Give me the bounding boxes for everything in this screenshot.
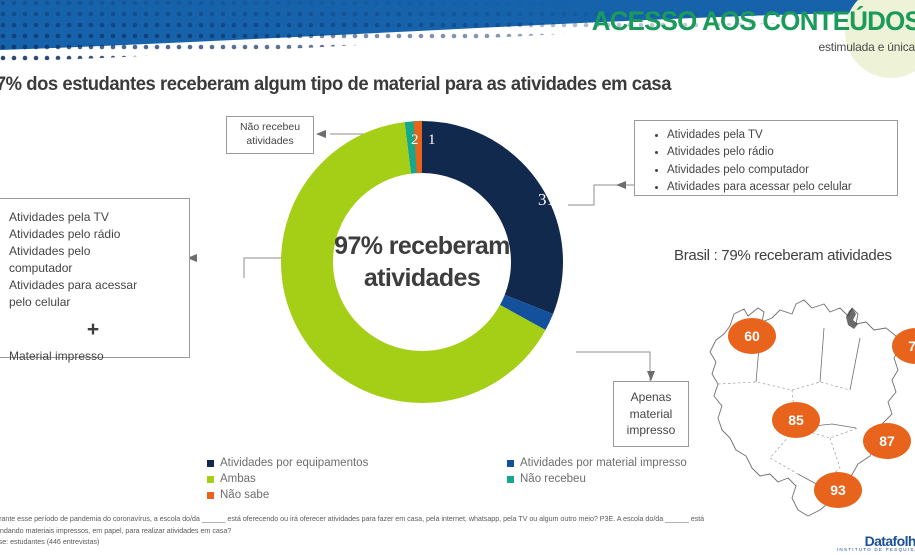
callout-ambas-footer: Material impresso — [9, 348, 177, 365]
footnote-line-2: mandando materiais impressos, em papel, … — [0, 525, 915, 537]
legend-column-left: Atividades por equipamentos Ambas Não sa… — [207, 455, 368, 503]
slide-canvas: ACESSO AOS CONTEÚDOS estimulada e única … — [0, 0, 915, 555]
slice-label-ambas: 65 — [306, 358, 323, 375]
legend-label-equipamentos: Atividades por equipamentos — [220, 457, 368, 469]
legend-item: Não sabe — [207, 487, 368, 503]
legend-swatch-ambas — [207, 476, 214, 483]
callout-equipamentos: Atividades pela TV Atividades pelo rádio… — [634, 120, 898, 196]
page-title: 97% dos estudantes receberam algum tipo … — [0, 74, 671, 96]
footnote-line-1: Durante esse período de pandemia do coro… — [0, 513, 915, 525]
callout-ambas-line-2: Atividades pelo — [9, 243, 177, 260]
legend-swatch-equipamentos — [207, 460, 214, 467]
legend-item: Não recebeu — [507, 471, 687, 487]
legend-label-nao-recebeu: Não recebeu — [520, 473, 586, 485]
header-subtitle: estimulada e única — [819, 40, 915, 54]
slice-label-nao-recebeu: 2 — [411, 133, 419, 148]
datafolha-logo-sub: INSTITUTO DE PESQUISAS — [837, 547, 915, 552]
callout-nao-recebeu-line1: Não recebeu — [240, 121, 300, 135]
header-title: ACESSO AOS CONTEÚDOS — [592, 8, 915, 35]
callout-apenas-line1: Apenas — [631, 389, 672, 406]
callout-ambas-line-3: computador — [9, 260, 177, 277]
callout-equipamentos-item-0: Atividades pela TV — [667, 127, 891, 144]
legend-swatch-nao-sabe — [207, 492, 214, 499]
footnote: Durante esse período de pandemia do coro… — [0, 513, 915, 548]
legend-label-nao-sabe: Não sabe — [220, 489, 269, 501]
slice-label-impresso: 2 — [549, 336, 558, 353]
callout-apenas-line2: material — [630, 406, 673, 423]
map-bubble-sudeste: 87 — [863, 423, 911, 459]
map-title: Brasil : 79% receberam atividades — [674, 247, 892, 264]
callout-ambas-line-1: Atividades pelo rádio — [9, 226, 177, 243]
map-bubble-sul: 93 — [814, 472, 862, 508]
legend-item: Atividades por material impresso — [507, 455, 687, 471]
legend-swatch-nao-recebeu — [507, 476, 514, 483]
callout-ambas-line-0: Atividades pela TV — [9, 209, 177, 226]
legend-label-impresso: Atividades por material impresso — [520, 457, 687, 469]
callout-ambas-line-4: Atividades para acessar — [9, 277, 177, 294]
callout-equipamentos-item-1: Atividades pelo rádio — [667, 144, 891, 161]
legend-item: Ambas — [207, 471, 368, 487]
callout-equipamentos-item-3: Atividades para acessar pelo celular — [667, 179, 891, 196]
callout-ambas-line-5: pelo celular — [9, 294, 177, 311]
map-bubble-norte: 60 — [728, 318, 776, 354]
callout-nao-recebeu: Não recebeu atividades — [226, 116, 314, 154]
legend-column-right: Atividades por material impresso Não rec… — [507, 455, 687, 487]
legend-item: Atividades por equipamentos — [207, 455, 368, 471]
slice-label-nao-sabe: 1 — [428, 133, 436, 148]
callout-nao-recebeu-line2: atividades — [246, 135, 293, 149]
callout-ambas: Atividades pela TV Atividades pelo rádio… — [0, 198, 190, 358]
brazil-map — [700, 278, 915, 526]
callout-apenas-impresso: Apenas material impresso — [613, 381, 689, 447]
callout-apenas-line3: impresso — [627, 422, 676, 439]
footnote-line-3: Base: estudantes (446 entrevistas) — [0, 536, 915, 548]
callout-equipamentos-item-2: Atividades pelo computador — [667, 162, 891, 179]
map-bubble-centro-oeste: 85 — [772, 402, 820, 438]
legend-label-ambas: Ambas — [220, 473, 256, 485]
slice-label-equipamentos: 31 — [538, 191, 555, 208]
callout-ambas-plus: + — [9, 319, 177, 340]
legend-swatch-impresso — [507, 460, 514, 467]
